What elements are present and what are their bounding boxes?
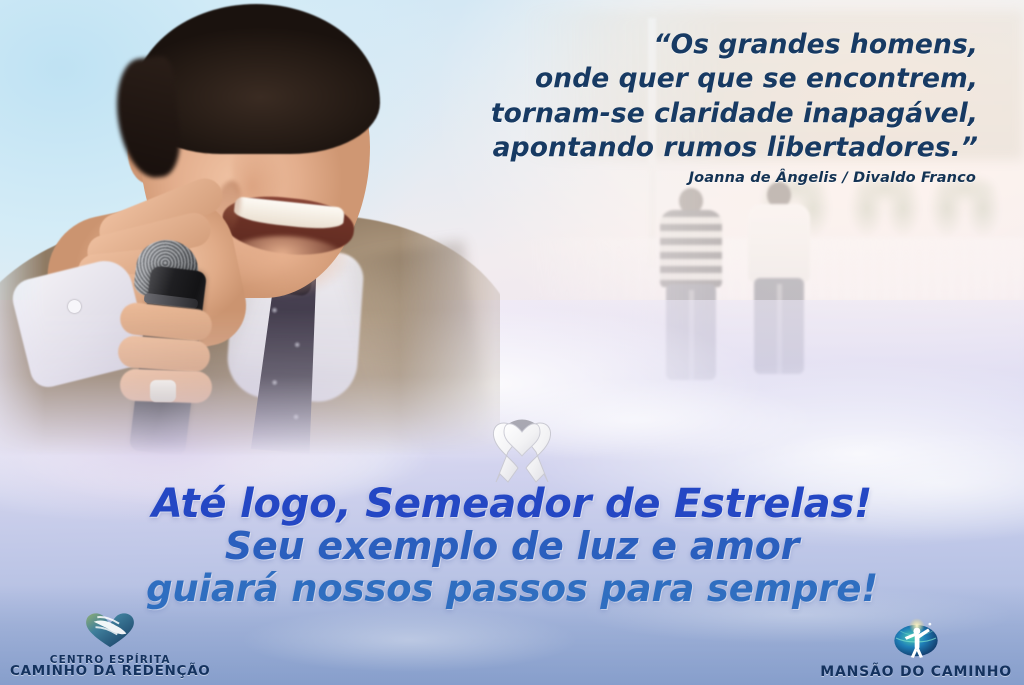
cuff-button: [68, 300, 81, 313]
logo-left-text: CENTRO ESPÍRITA CAMINHO DA REDENÇÃO: [10, 655, 210, 679]
finger-ring: [150, 380, 176, 402]
logo-right-line-1: MANSÃO DO CAMINHO: [820, 665, 1012, 679]
quote-text: “Os grandes homens, onde quer que se enc…: [358, 28, 978, 166]
logo-right-text: MANSÃO DO CAMINHO: [820, 665, 1012, 679]
quote-line-4: apontando rumos libertadores.”: [358, 131, 978, 165]
quote-line-3: tornam-se claridade inapagável,: [358, 97, 978, 131]
memorial-poster: “Os grandes homens, onde quer que se enc…: [0, 0, 1024, 685]
globe-figure-icon: [890, 617, 942, 663]
headline-line-3: guiará nossos passos para sempre!: [0, 568, 1024, 610]
figure-torso: [660, 210, 722, 288]
quote-line-1: “Os grandes homens,: [358, 28, 978, 62]
headline-line-1: Até logo, Semeador de Estrelas!: [0, 484, 1024, 525]
quote-line-2: onde quer que se encontrem,: [358, 62, 978, 96]
mourning-ribbon-icon: [478, 408, 566, 486]
sideburn: [112, 55, 184, 181]
logo-mansao-do-caminho: MANSÃO DO CAMINHO: [820, 617, 1012, 679]
figure-torso: [748, 204, 810, 282]
logo-centro-espirita: CENTRO ESPÍRITA CAMINHO DA REDENÇÃO: [10, 609, 210, 679]
heart-hands-icon: [81, 609, 139, 653]
headline-line-2: Seu exemplo de luz e amor: [0, 525, 1024, 568]
headline-block: Até logo, Semeador de Estrelas! Seu exem…: [0, 484, 1024, 610]
logo-left-line-2: CAMINHO DA REDENÇÃO: [10, 665, 210, 679]
quote-attribution: Joanna de Ângelis / Divaldo Franco: [356, 170, 976, 186]
gripping-finger: [117, 335, 211, 373]
